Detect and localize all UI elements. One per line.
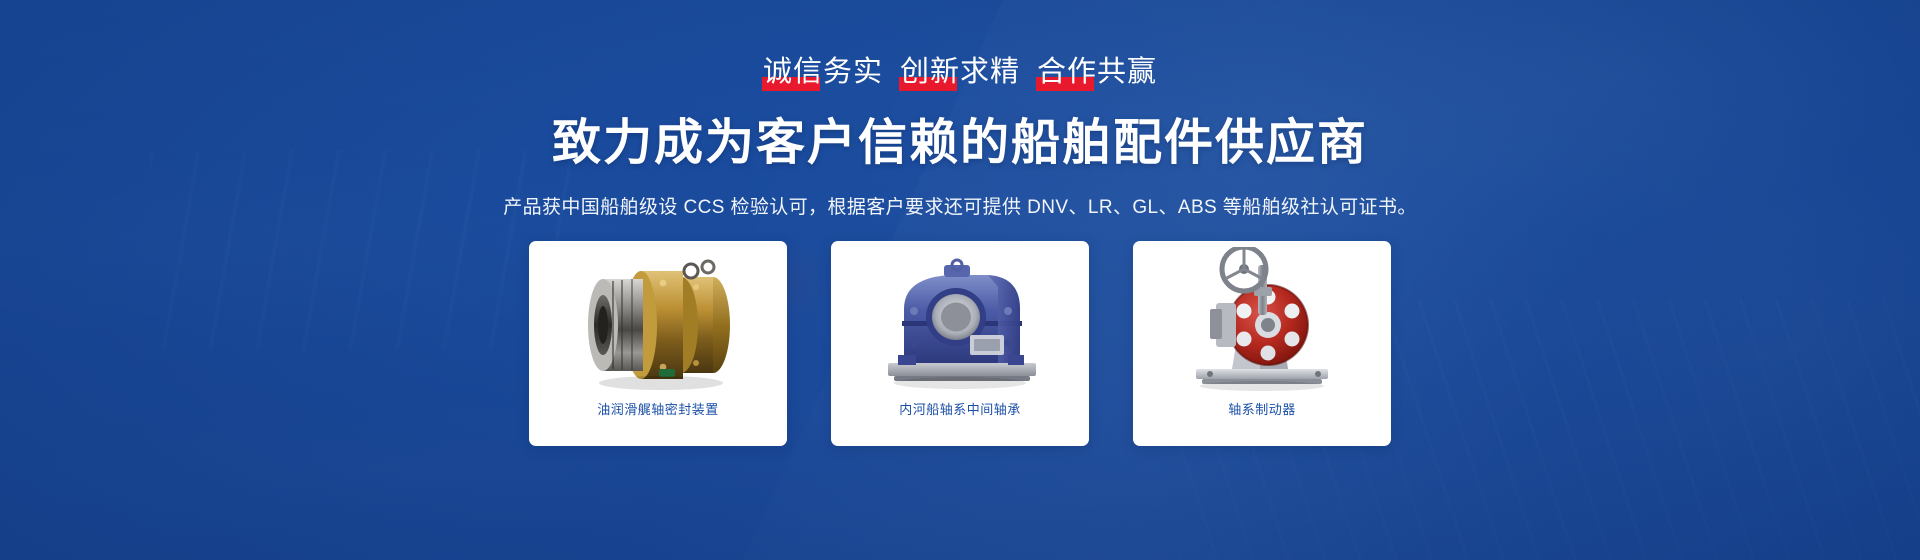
- product-card-caption: 油润滑艉轴密封装置: [597, 403, 719, 430]
- tagline-part-1: 诚信务实: [763, 48, 883, 90]
- headline: 致力成为客户信赖的船舶配件供应商: [552, 103, 1368, 174]
- stern-shaft-seal-image: [529, 241, 787, 403]
- tagline-part-2: 创新求精: [900, 48, 1020, 90]
- product-card-caption: 轴系制动器: [1228, 403, 1296, 430]
- shaft-brake-image: [1133, 241, 1391, 403]
- product-card-list: 油润滑艉轴密封装置: [529, 241, 1391, 446]
- tagline-part-3-label: 合作共赢: [1037, 56, 1157, 88]
- banner-content: 诚信务实 创新求精 合作共赢 致力成为客户信赖的船舶配件供应商 产品获中国船舶级…: [0, 0, 1920, 560]
- stern-shaft-seal-illustration: [563, 247, 753, 397]
- tagline-part-3: 合作共赢: [1037, 48, 1157, 90]
- intermediate-bearing-image: [831, 241, 1089, 403]
- intermediate-bearing-illustration: [870, 247, 1050, 397]
- tagline-part-1-label: 诚信务实: [763, 56, 883, 88]
- shaft-brake-illustration: [1172, 247, 1352, 397]
- product-card[interactable]: 油润滑艉轴密封装置: [529, 241, 787, 446]
- product-card[interactable]: 内河船轴系中间轴承: [831, 241, 1089, 446]
- tagline: 诚信务实 创新求精 合作共赢: [763, 48, 1157, 90]
- tagline-part-2-label: 创新求精: [900, 56, 1020, 88]
- product-card[interactable]: 轴系制动器: [1133, 241, 1391, 446]
- subtitle: 产品获中国船舶级设 CCS 检验认可，根据客户要求还可提供 DNV、LR、GL、…: [503, 192, 1417, 219]
- product-card-caption: 内河船轴系中间轴承: [899, 403, 1021, 430]
- hero-banner: 诚信务实 创新求精 合作共赢 致力成为客户信赖的船舶配件供应商 产品获中国船舶级…: [0, 0, 1920, 560]
